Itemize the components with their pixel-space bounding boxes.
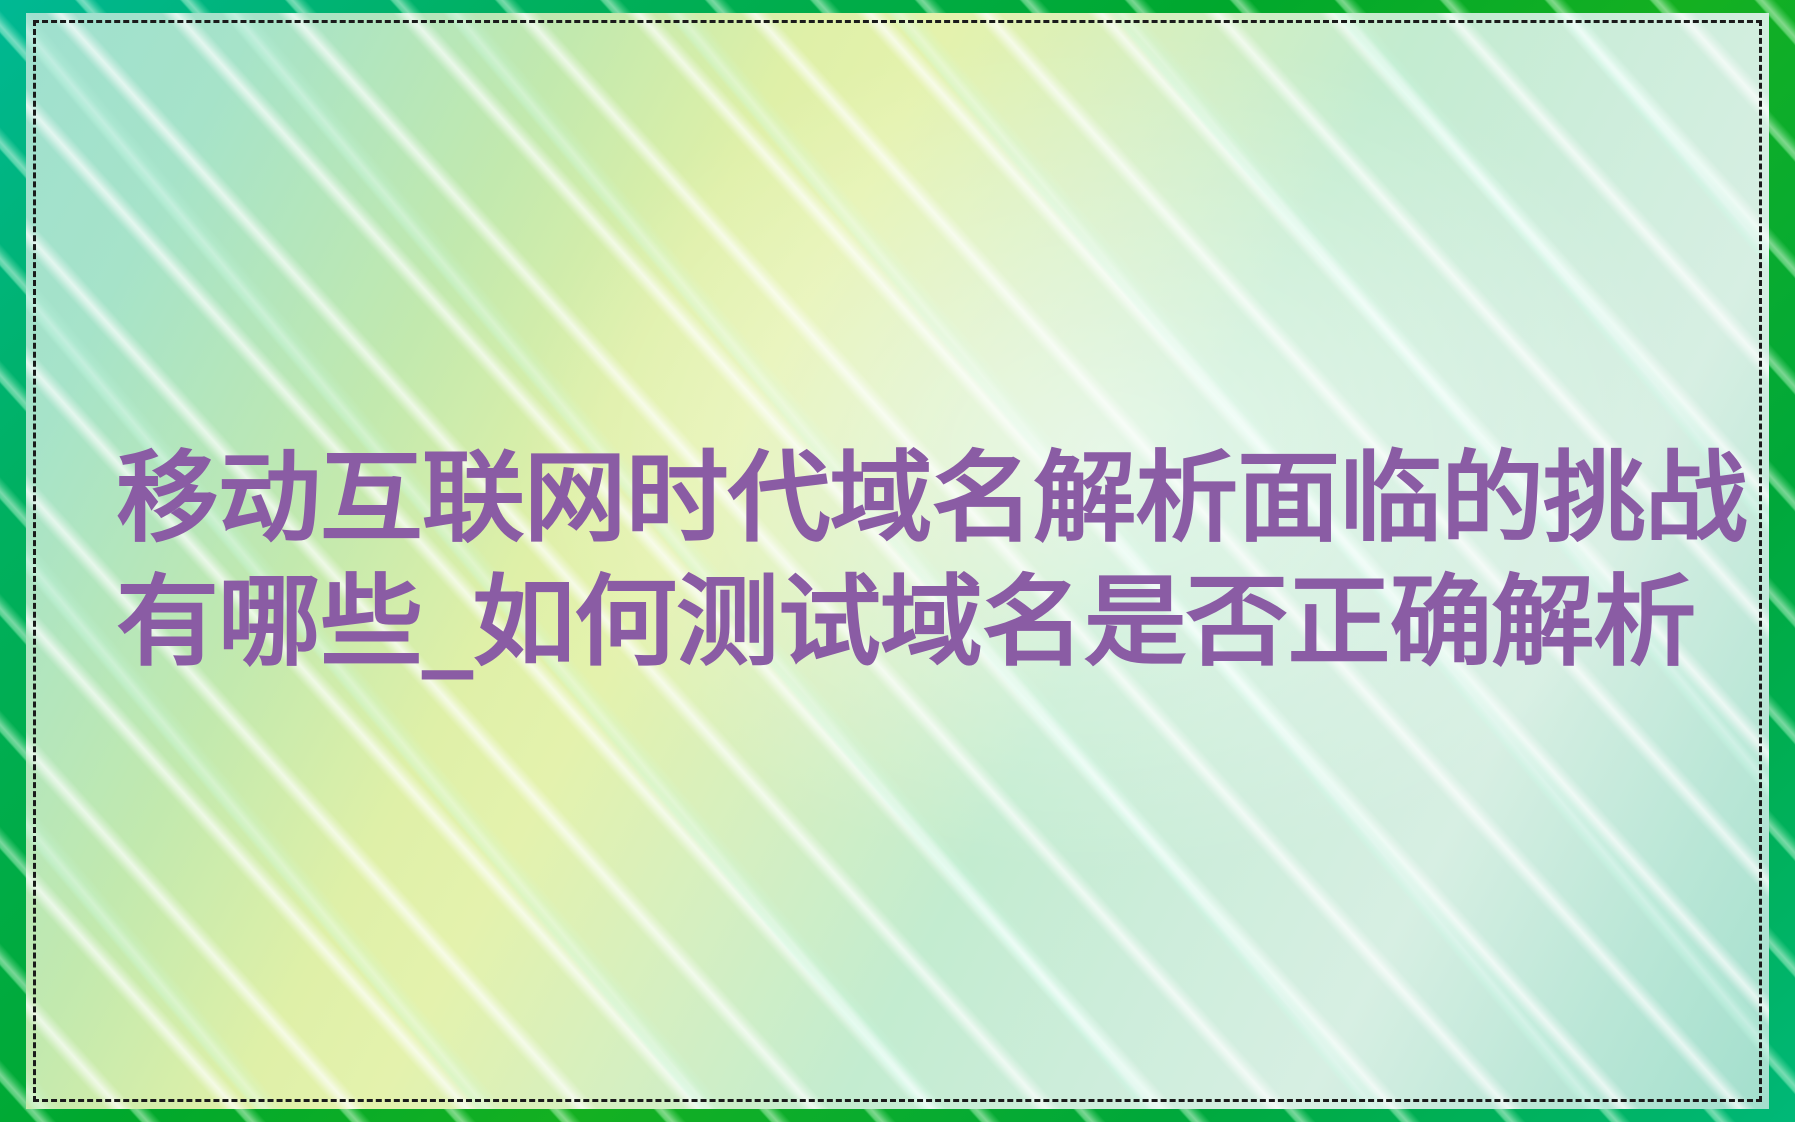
content-panel: 移动互联网时代域名解析面临的挑战 有哪些_如何测试域名是否正确解析	[26, 13, 1769, 1109]
title-block: 移动互联网时代域名解析面临的挑战 有哪些_如何测试域名是否正确解析	[116, 13, 1746, 1109]
title-line-1: 移动互联网时代域名解析面临的挑战	[116, 437, 1769, 561]
title-line-2: 有哪些_如何测试域名是否正确解析	[116, 561, 1769, 685]
title-card: 移动互联网时代域名解析面临的挑战 有哪些_如何测试域名是否正确解析	[0, 0, 1795, 1122]
